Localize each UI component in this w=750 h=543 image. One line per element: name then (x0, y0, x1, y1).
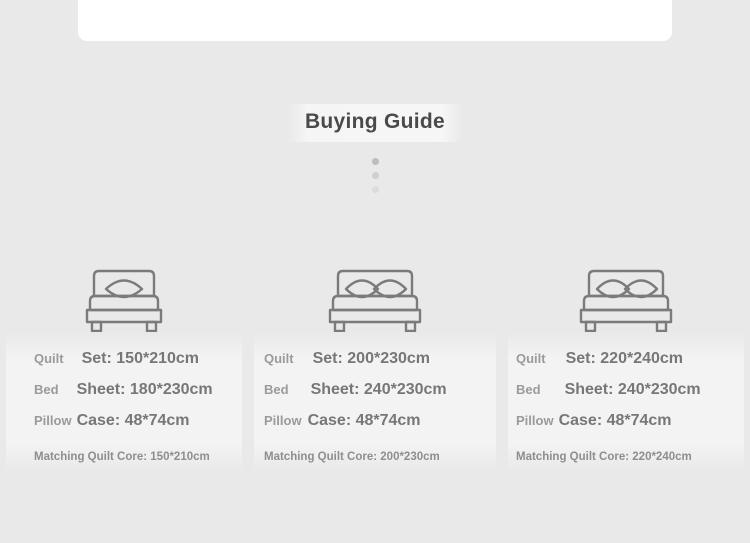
spec-row: Bed Sheet: 240*230cm (264, 381, 502, 412)
dot-1-icon (372, 158, 379, 165)
quilt-core-note: Matching Quilt Core: 200*230cm (264, 451, 502, 463)
double-bed-icon (502, 228, 750, 332)
spec-row: Quilt Set: 150*210cm (34, 350, 248, 381)
spec-label: Bed (264, 382, 289, 397)
buying-guide-title-band: Buying Guide (287, 104, 463, 142)
spec-label: Bed (34, 382, 59, 397)
column-3-specs: Quilt Set: 220*240cm Bed Sheet: 240*230c… (502, 332, 750, 463)
quilt-core-note: Matching Quilt Core: 220*240cm (516, 451, 750, 463)
decorative-dots (0, 158, 750, 200)
spec-value: Set: 150*210cm (82, 350, 199, 368)
size-column-3: Quilt Set: 220*240cm Bed Sheet: 240*230c… (502, 228, 750, 463)
quilt-core-note: Matching Quilt Core: 150*210cm (34, 451, 248, 463)
spec-value: Sheet: 240*230cm (311, 381, 447, 399)
spec-value: Sheet: 180*230cm (77, 381, 213, 399)
spec-label: Quilt (34, 351, 64, 366)
single-bed-icon (0, 228, 248, 332)
spec-row: Pillow Case: 48*74cm (264, 412, 502, 443)
spec-value: Sheet: 240*230cm (565, 381, 701, 399)
spec-value: Case: 48*74cm (559, 412, 672, 430)
spec-value: Set: 200*230cm (313, 350, 430, 368)
spec-row: Quilt Set: 220*240cm (516, 350, 750, 381)
spec-label: Pillow (264, 413, 302, 428)
buying-guide-header: Buying Guide (0, 104, 750, 142)
spec-value: Set: 220*240cm (566, 350, 683, 368)
column-1-specs: Quilt Set: 150*210cm Bed Sheet: 180*230c… (0, 332, 248, 463)
double-bed-icon (248, 228, 502, 332)
spec-label: Pillow (516, 413, 554, 428)
spec-label: Quilt (516, 351, 546, 366)
spec-row: Bed Sheet: 180*230cm (34, 381, 248, 412)
top-content-card (78, 0, 672, 41)
dot-2-icon (372, 172, 379, 179)
spec-row: Pillow Case: 48*74cm (516, 412, 750, 443)
spec-label: Bed (516, 382, 541, 397)
spec-row: Bed Sheet: 240*230cm (516, 381, 750, 412)
spec-row: Pillow Case: 48*74cm (34, 412, 248, 443)
spec-label: Pillow (34, 413, 72, 428)
spec-label: Quilt (264, 351, 294, 366)
size-guide-columns: Quilt Set: 150*210cm Bed Sheet: 180*230c… (0, 228, 750, 463)
spec-value: Case: 48*74cm (77, 412, 190, 430)
size-column-1: Quilt Set: 150*210cm Bed Sheet: 180*230c… (0, 228, 248, 463)
column-2-specs: Quilt Set: 200*230cm Bed Sheet: 240*230c… (248, 332, 502, 463)
page-title: Buying Guide (305, 110, 445, 133)
spec-value: Case: 48*74cm (308, 412, 421, 430)
dot-3-icon (372, 186, 379, 193)
spec-row: Quilt Set: 200*230cm (264, 350, 502, 381)
size-column-2: Quilt Set: 200*230cm Bed Sheet: 240*230c… (248, 228, 502, 463)
